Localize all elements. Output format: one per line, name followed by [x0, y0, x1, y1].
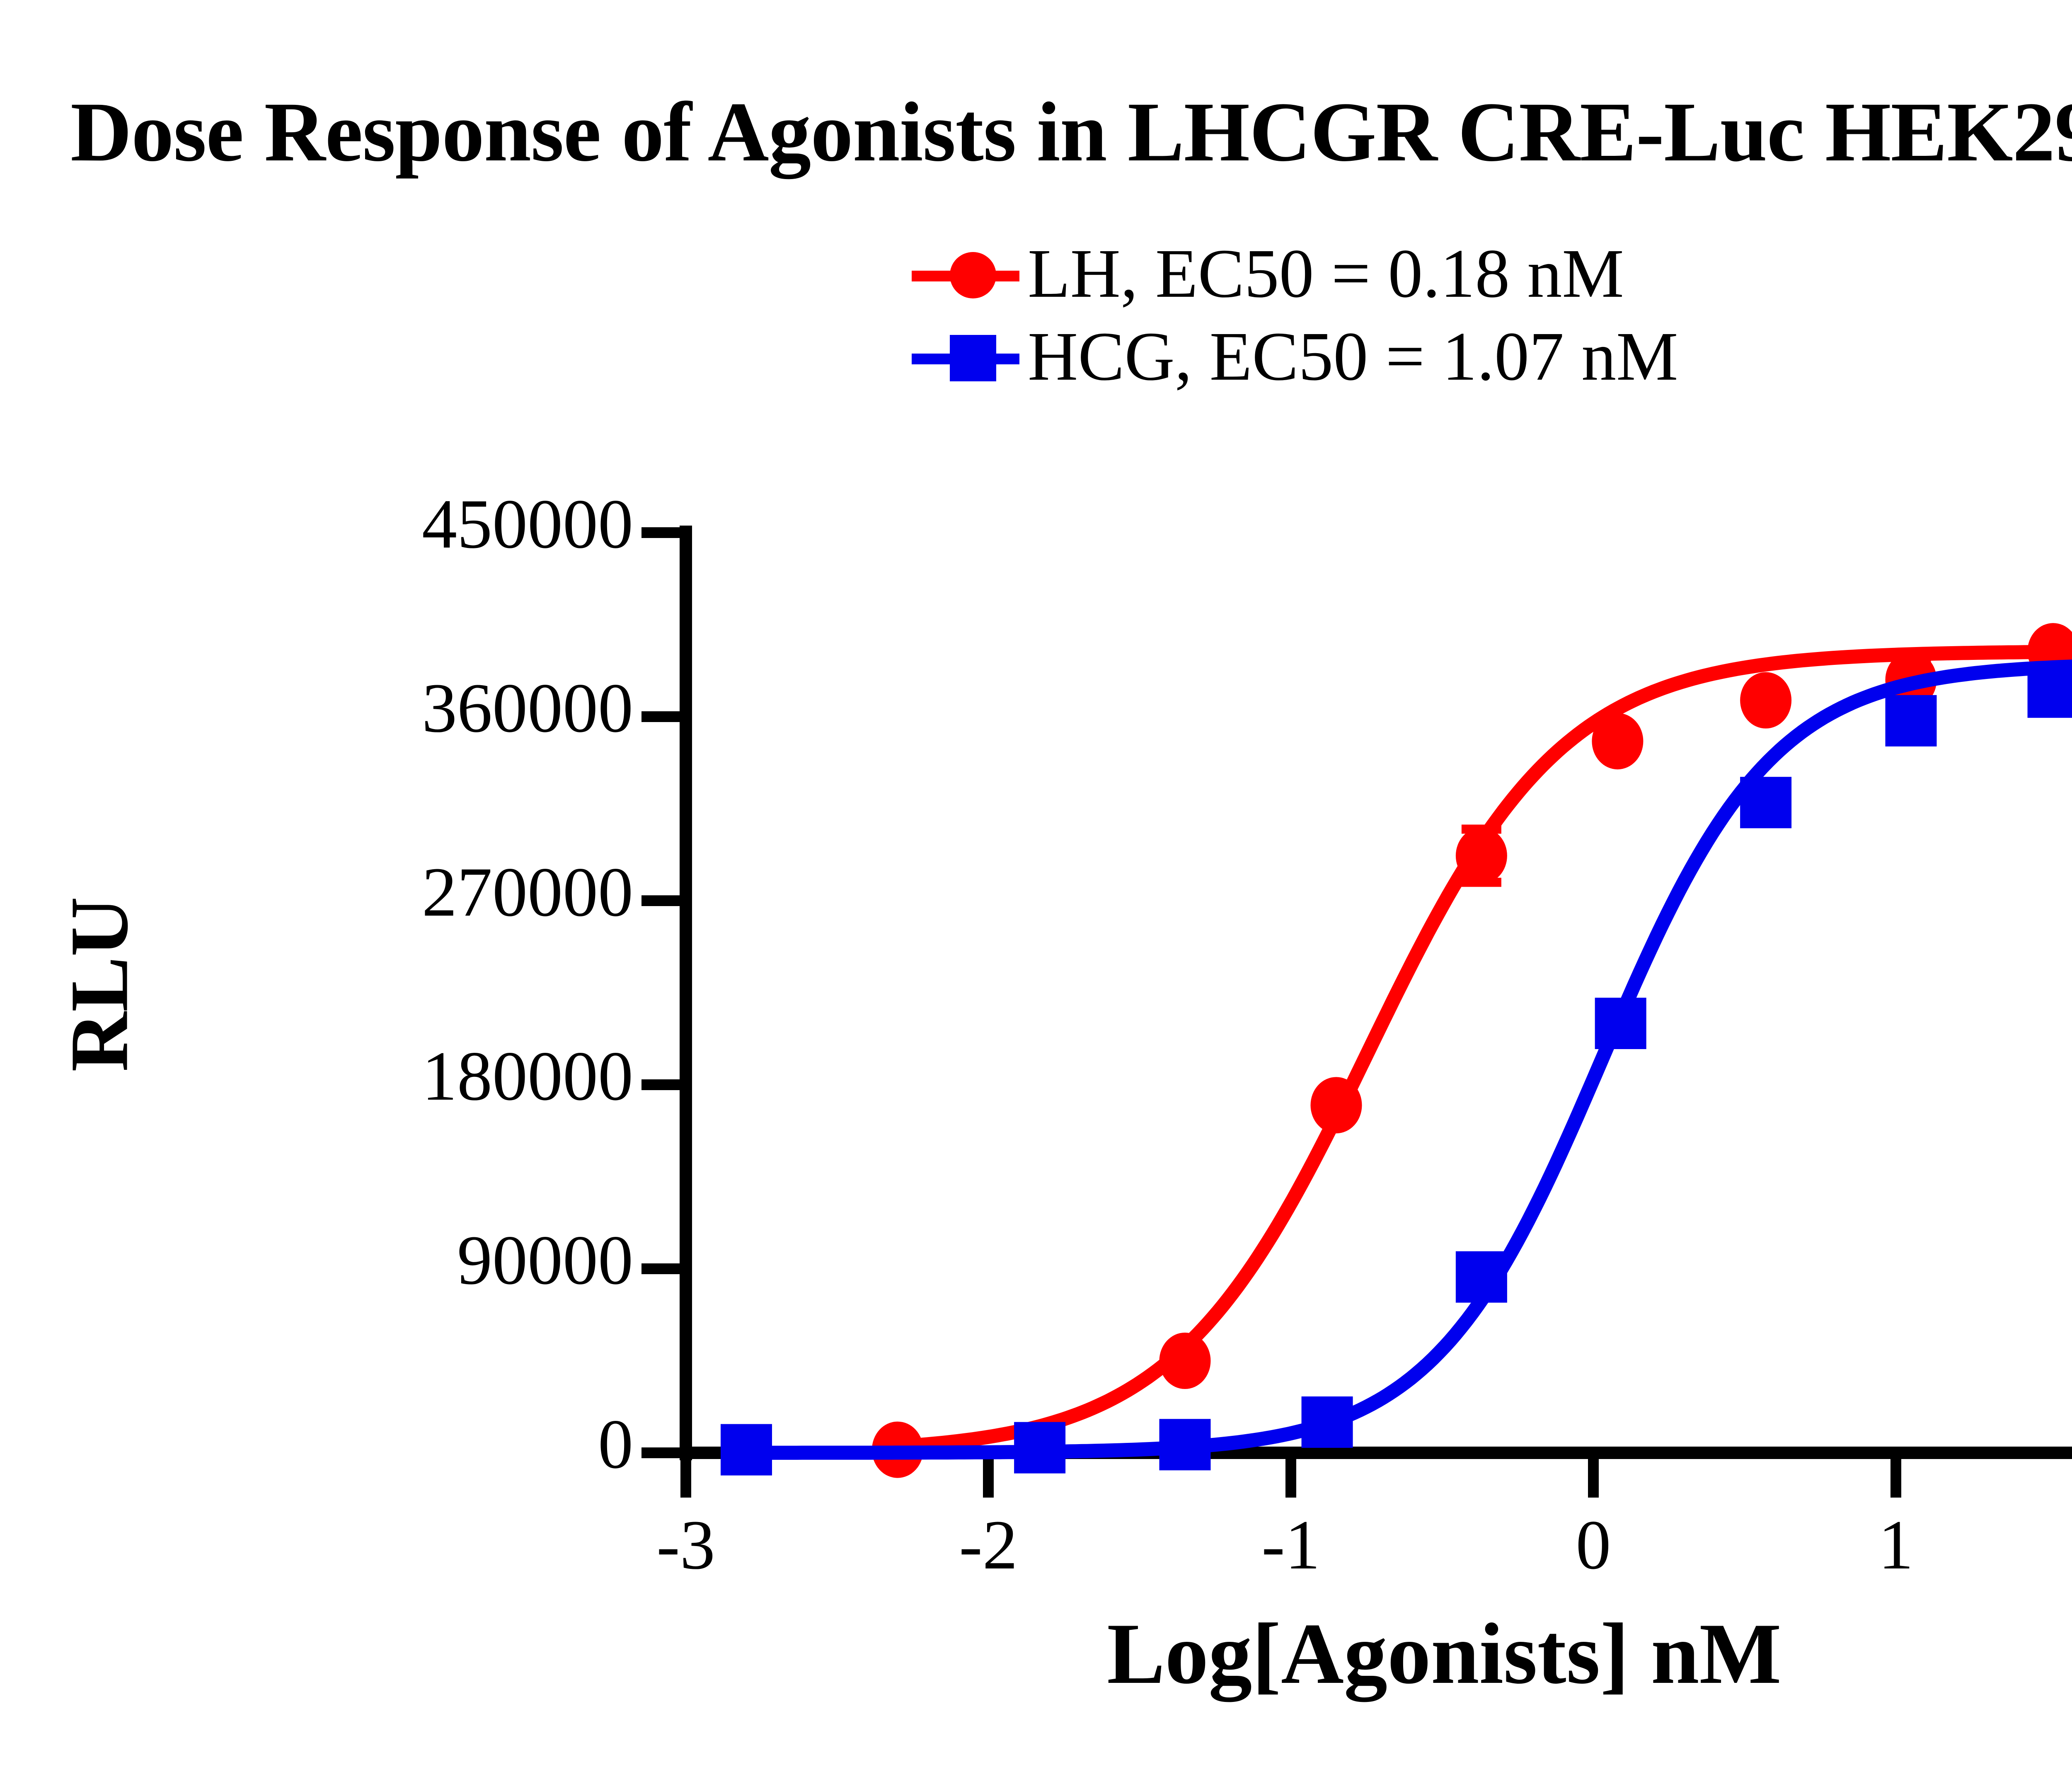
y-tick-mark [641, 895, 681, 906]
x-tick-mark [1285, 1458, 1296, 1498]
y-tick-label: 90000 [260, 1220, 633, 1301]
y-tick-label: 180000 [260, 1036, 633, 1117]
data-point-square [1456, 1251, 1507, 1303]
data-point-circle [1886, 652, 1937, 708]
x-tick-label: -1 [1229, 1505, 1353, 1585]
data-point-square [1302, 1396, 1353, 1448]
x-tick-label: -3 [624, 1505, 748, 1585]
y-tick-label: 270000 [260, 852, 633, 933]
plot-area: 090000180000270000360000450000 -3-2-1012… [0, 0, 2072, 1784]
y-tick-label: 360000 [260, 668, 633, 749]
x-tick-mark [983, 1458, 994, 1498]
y-tick-mark [641, 711, 681, 722]
x-axis-line [680, 1447, 2072, 1459]
data-point-square [2028, 667, 2072, 718]
x-tick-label: -2 [926, 1505, 1051, 1585]
x-tick-mark [680, 1458, 691, 1498]
data-point-square [1886, 695, 1937, 747]
x-axis-title: Log[Agonists] nM [680, 1604, 2072, 1704]
y-axis-title: RLU [52, 777, 147, 1192]
data-point-circle [1456, 827, 1507, 884]
data-point-circle [2028, 623, 2072, 679]
y-tick-mark [641, 1447, 681, 1458]
data-point-square [1595, 998, 1646, 1049]
data-point-circle [1592, 713, 1643, 769]
fit-curve-lh [898, 652, 2072, 1447]
y-tick-label: 450000 [260, 484, 633, 565]
y-tick-mark [641, 527, 681, 538]
data-point-circle [1311, 1077, 1362, 1133]
data-point-circle [1740, 672, 1791, 729]
series-lh [872, 541, 2072, 1478]
figure-canvas: Dose Response of Agonists in LHCGR CRE-L… [0, 0, 2072, 1784]
y-tick-mark [641, 1079, 681, 1090]
series-hcg [721, 634, 2072, 1476]
data-point-square [1159, 1419, 1211, 1470]
x-tick-label: 1 [1834, 1505, 1958, 1585]
x-tick-mark [1588, 1458, 1599, 1498]
y-tick-label: 0 [260, 1404, 633, 1485]
data-point-square [1740, 777, 1791, 828]
fit-curve-hcg [746, 664, 2072, 1452]
x-tick-label: 0 [1531, 1505, 1656, 1585]
x-tick-mark [1890, 1458, 1901, 1498]
y-axis-line [680, 526, 692, 1460]
y-tick-mark [641, 1263, 681, 1274]
data-point-circle [1159, 1333, 1211, 1389]
